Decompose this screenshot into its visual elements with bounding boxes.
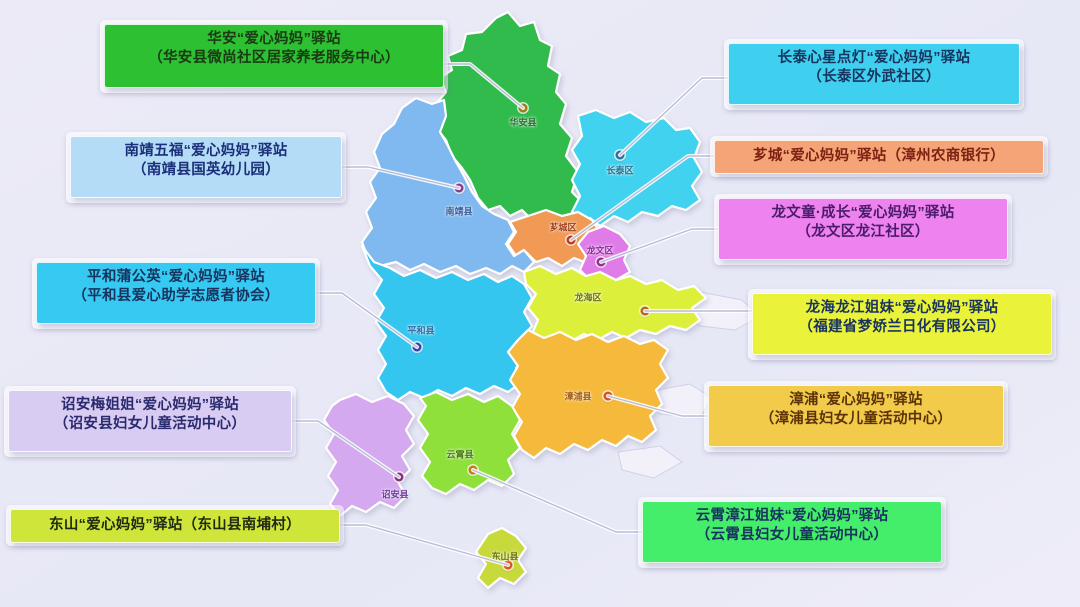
city-dot-xiangcheng [567, 236, 576, 245]
callout-pinghe-station[interactable]: 平和蒲公英“爱心妈妈”驿站（平和县爱心助学志愿者协会） [36, 262, 316, 324]
callout-title-dongshan-station: 东山“爱心妈妈”驿站（东山县南埔村） [49, 517, 301, 533]
callout-dongshan-station[interactable]: 东山“爱心妈妈”驿站（东山县南埔村） [10, 509, 340, 543]
city-dot-changtai [616, 151, 625, 160]
city-dot-yunxiao [469, 466, 478, 475]
callout-title-nanjing-station: 南靖五福“爱心妈妈”驿站 [124, 143, 287, 159]
callout-subtitle-zhangpu-station: （漳浦县妇女儿童活动中心） [719, 410, 993, 429]
callout-title-changtai-station: 长泰心星点灯“爱心妈妈”驿站 [778, 50, 971, 66]
callout-title-longwen-station: 龙文童·成长“爱心妈妈”驿站 [771, 205, 954, 221]
callout-subtitle-pinghe-station: （平和县爱心助学志愿者协会） [47, 287, 305, 306]
city-dot-zhangpu [604, 392, 613, 401]
callout-subtitle-longhai-station: （福建省梦娇兰日化有限公司） [763, 318, 1041, 337]
callout-title-pinghe-station: 平和蒲公英“爱心妈妈”驿站 [87, 269, 265, 285]
city-dot-longhai [641, 307, 650, 316]
callout-subtitle-nanjing-station: （南靖县国英幼儿园） [81, 161, 331, 180]
city-dot-nanjing [455, 184, 464, 193]
callout-longwen-station[interactable]: 龙文童·成长“爱心妈妈”驿站（龙文区龙江社区） [718, 198, 1008, 260]
callout-title-zhangpu-station: 漳浦“爱心妈妈”驿站 [789, 392, 923, 408]
map-poster: 华安县长泰区芗城区龙文区南靖县平和县龙海区漳浦县云霄县诏安县东山县 华安“爱心妈… [0, 0, 1080, 607]
callout-subtitle-longwen-station: （龙文区龙江社区） [729, 223, 997, 242]
callout-subtitle-yunxiao-station: （云霄县妇女儿童活动中心） [653, 526, 931, 545]
callout-nanjing-station[interactable]: 南靖五福“爱心妈妈”驿站（南靖县国英幼儿园） [70, 136, 342, 198]
callout-subtitle-huaan-station: （华安县微尚社区居家养老服务中心） [115, 49, 433, 68]
callout-subtitle-zhaoan-station: （诏安县妇女儿童活动中心） [19, 415, 281, 434]
callout-title-yunxiao-station: 云霄漳江姐妹“爱心妈妈”驿站 [696, 508, 889, 524]
callout-huaan-station[interactable]: 华安“爱心妈妈”驿站（华安县微尚社区居家养老服务中心） [104, 24, 444, 88]
callout-title-zhaoan-station: 诏安梅姐姐“爱心妈妈”驿站 [61, 397, 239, 413]
callout-changtai-station[interactable]: 长泰心星点灯“爱心妈妈”驿站（长泰区外武社区） [728, 43, 1020, 105]
city-dot-zhaoan [395, 473, 404, 482]
callout-yunxiao-station[interactable]: 云霄漳江姐妹“爱心妈妈”驿站（云霄县妇女儿童活动中心） [642, 501, 942, 563]
callout-subtitle-changtai-station: （长泰区外武社区） [739, 68, 1009, 87]
callout-zhaoan-station[interactable]: 诏安梅姐姐“爱心妈妈”驿站（诏安县妇女儿童活动中心） [8, 390, 292, 452]
callout-longhai-station[interactable]: 龙海龙江姐妹“爱心妈妈”驿站（福建省梦娇兰日化有限公司） [752, 293, 1052, 355]
city-dot-dongshan [504, 561, 513, 570]
callout-title-longhai-station: 龙海龙江姐妹“爱心妈妈”驿站 [806, 300, 999, 316]
city-dot-longwen [597, 258, 606, 267]
callout-title-xiangcheng-station: 芗城“爱心妈妈”驿站（漳州农商银行） [753, 148, 1005, 164]
callout-xiangcheng-station[interactable]: 芗城“爱心妈妈”驿站（漳州农商银行） [714, 140, 1044, 174]
city-dot-huaan [519, 104, 528, 113]
callout-zhangpu-station[interactable]: 漳浦“爱心妈妈”驿站（漳浦县妇女儿童活动中心） [708, 385, 1004, 447]
callout-title-huaan-station: 华安“爱心妈妈”驿站 [207, 31, 341, 47]
city-dot-pinghe [413, 343, 422, 352]
